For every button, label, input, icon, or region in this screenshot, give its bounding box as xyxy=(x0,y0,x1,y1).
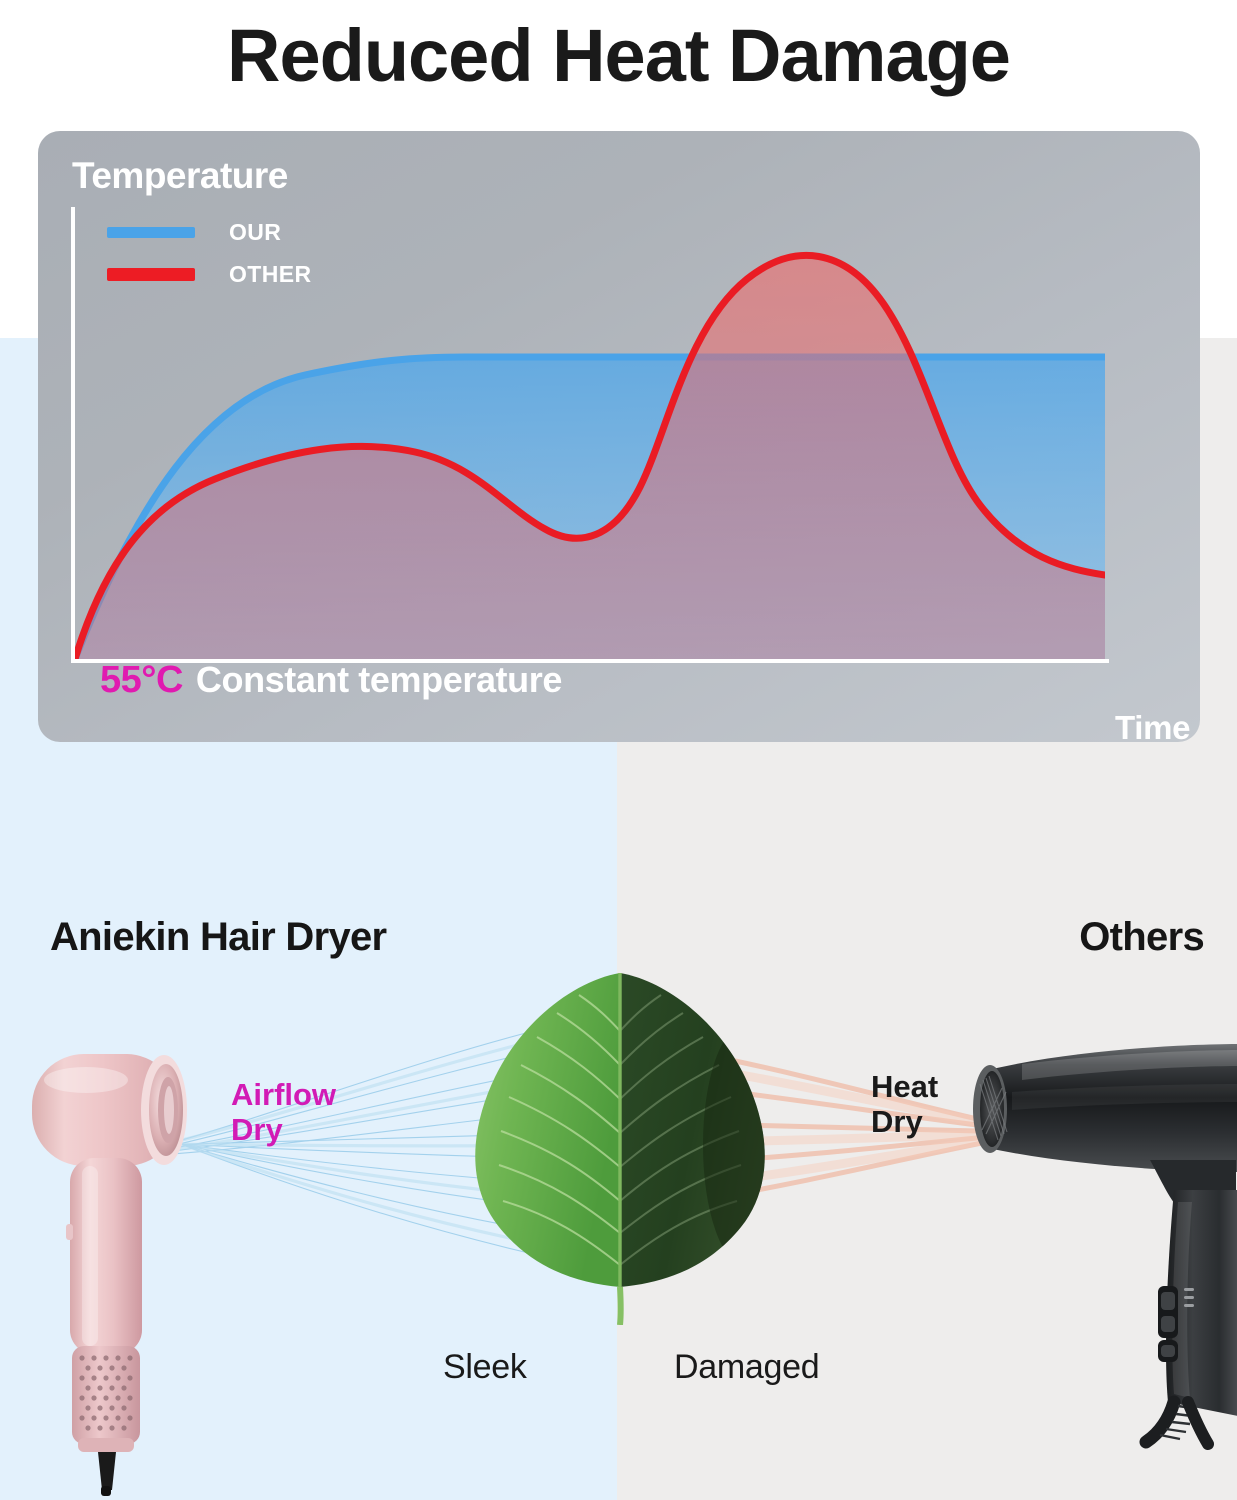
our-product-label: Aniekin Hair Dryer xyxy=(50,915,386,960)
airflow-dry-line-2: Dry xyxy=(231,1113,336,1148)
chart-caption: 55°C Constant temperature xyxy=(100,659,562,702)
heat-dry-line-2: Dry xyxy=(871,1105,938,1140)
caption-temperature-text: Constant temperature xyxy=(196,659,562,701)
sleek-result-label: Sleek xyxy=(443,1348,527,1387)
heat-dry-label: Heat Dry xyxy=(871,1070,938,1139)
airflow-dry-label: Airflow Dry xyxy=(231,1078,336,1147)
leaf-image xyxy=(455,965,785,1325)
chart-title: Temperature xyxy=(72,155,288,197)
airflow-dry-line-1: Airflow xyxy=(231,1078,336,1113)
chart-x-axis-label: Time xyxy=(1115,709,1190,747)
chart-plot-svg xyxy=(75,207,1105,659)
caption-temperature-value: 55°C xyxy=(100,659,183,702)
other-hair-dryer-image xyxy=(952,1030,1237,1500)
aniekin-hair-dryer-image xyxy=(24,1046,224,1496)
damaged-result-label: Damaged xyxy=(674,1348,819,1387)
heat-dry-line-1: Heat xyxy=(871,1070,938,1105)
other-product-label: Others xyxy=(1079,915,1204,960)
page-title: Reduced Heat Damage xyxy=(0,0,1237,110)
temperature-chart-panel: Temperature OUR OTHER Ti xyxy=(38,131,1200,742)
